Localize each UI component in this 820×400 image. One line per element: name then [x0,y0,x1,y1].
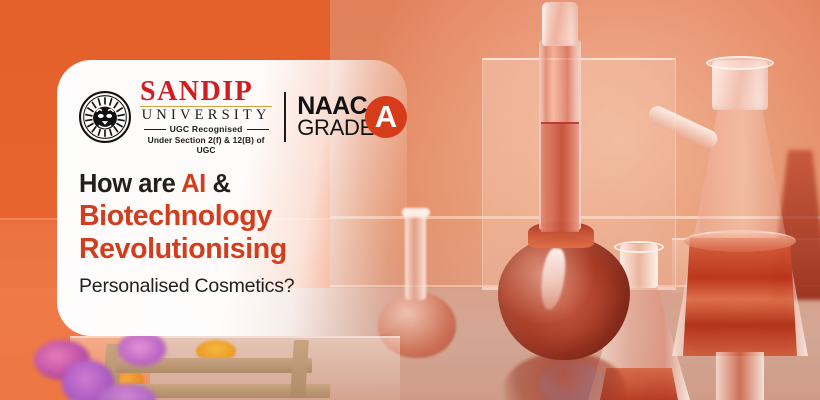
ugc-recognition-text: UGC Recognised [170,124,243,134]
headline-line-2: Biotechnology [79,200,407,233]
ugc-recognition-line: UGC Recognised [140,124,272,134]
grade-word: GRADE [297,118,374,139]
ugc-section-text: Under Section 2(f) & 12(B) of UGC [140,135,272,155]
card-content: SANDIP UNIVERSITY UGC Recognised Under S… [57,60,407,336]
lion-crest-icon [79,91,131,143]
naac-grade-badge: A [365,96,407,138]
rule-left [144,129,166,130]
promotional-banner: SANDIP UNIVERSITY UGC Recognised Under S… [0,0,820,400]
university-wordmark: SANDIP UNIVERSITY UGC Recognised Under S… [140,79,272,155]
logo-divider [284,92,286,142]
naac-lockup: NAAC GRADE A [297,95,407,139]
headline-prefix: How are [79,170,181,198]
headline-block: How are AI & Biotechnology Revolutionisi… [79,170,407,298]
headline-suffix: & [206,170,231,198]
headline-accent-ai: AI [181,170,206,198]
headline-line-3: Revolutionising [79,233,407,266]
headline-line-1: How are AI & [79,170,407,200]
volumetric-flask-large-icon [498,0,632,400]
headline-line-4: Personalised Cosmetics? [79,275,407,298]
naac-text: NAAC GRADE [297,95,374,139]
erlenmeyer-flask-sidearm-icon [660,60,820,400]
logo-lockup: SANDIP UNIVERSITY UGC Recognised Under S… [79,86,407,148]
flower-icon [118,332,166,366]
university-word: UNIVERSITY [140,108,272,123]
rule-right [247,129,269,130]
university-name: SANDIP [140,79,272,105]
